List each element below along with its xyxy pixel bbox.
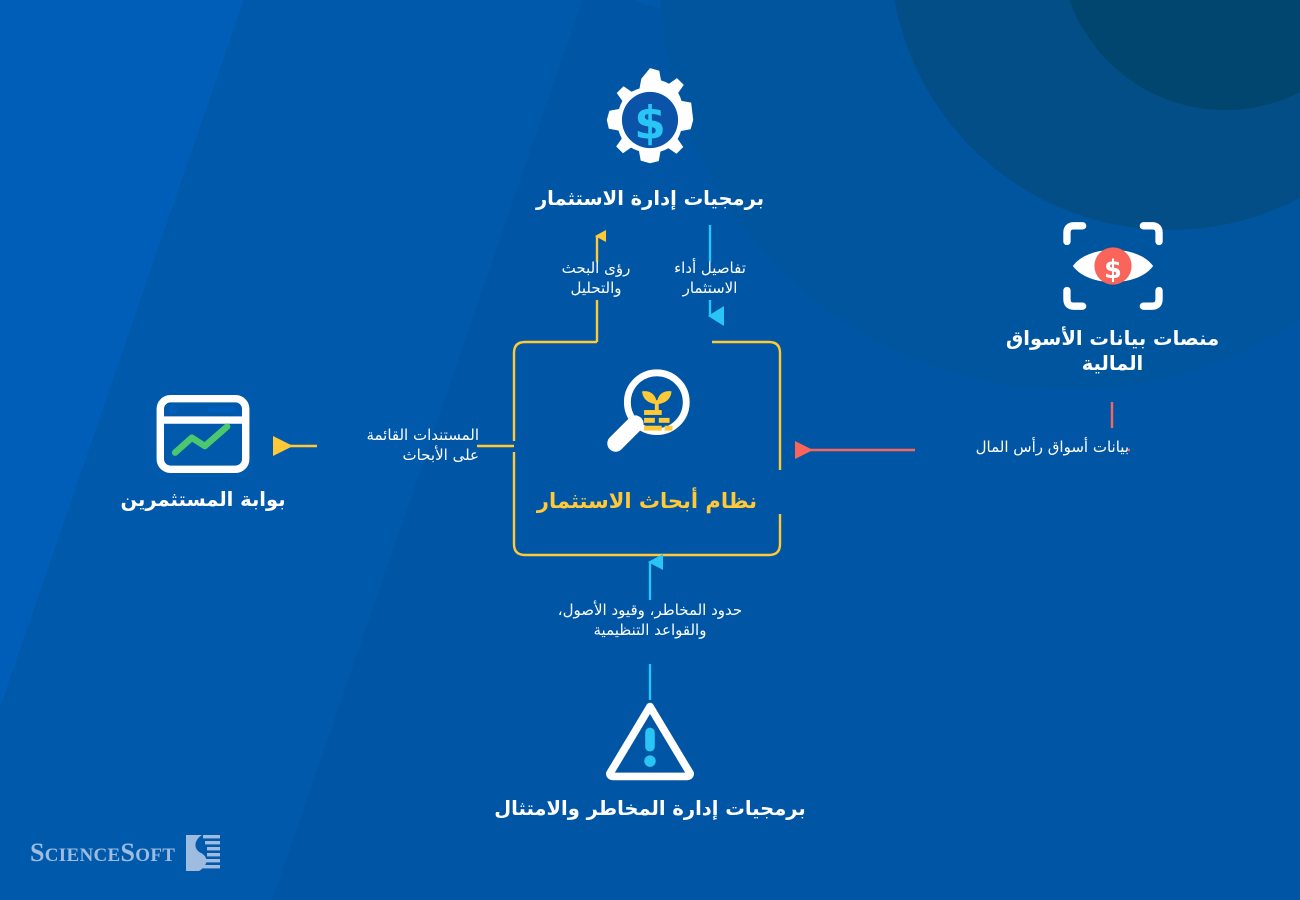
node-label: برمجيات إدارة الاستثمار	[490, 186, 810, 211]
center-node-investment-research-system[interactable]: نظام أبحاث الاستثمار	[513, 341, 781, 556]
browser-chart-icon	[78, 395, 328, 473]
gear-dollar-icon: $	[490, 66, 810, 174]
logo-part: CIENCE	[45, 845, 121, 866]
logo-part: T	[162, 845, 175, 866]
node-investor-portal[interactable]: بوابة المستثمرين	[78, 395, 328, 512]
logo-part: S	[120, 838, 135, 867]
logo-part: OF	[135, 845, 162, 866]
background-circle-middle	[890, 0, 1300, 230]
node-financial-market-data-platforms[interactable]: $ منصات بيانات الأسواق المالية	[965, 218, 1260, 377]
svg-text:$: $	[1104, 255, 1122, 285]
edge-label-research-insights: رؤى البحث والتحليل	[541, 258, 651, 299]
edge-label-risk-limits-rules: حدود المخاطر، وقيود الأصول، والقواعد الت…	[480, 600, 820, 641]
node-investment-management-software[interactable]: $ برمجيات إدارة الاستثمار	[490, 66, 810, 211]
eye-scan-dollar-icon: $	[965, 218, 1260, 314]
edge-label-investment-performance-details: تفاصيل أداء الاستثمار	[655, 258, 765, 299]
node-label: منصات بيانات الأسواق المالية	[965, 326, 1260, 377]
magnifier-sprout-coins-icon	[596, 361, 698, 467]
sciencesoft-logo[interactable]: SCIENCESOFT	[30, 833, 222, 873]
sciencesoft-mark	[184, 833, 222, 873]
sciencesoft-wordmark: SCIENCESOFT	[30, 838, 175, 868]
warning-triangle-icon	[460, 700, 840, 782]
svg-text:$: $	[634, 96, 666, 149]
node-label: برمجيات إدارة المخاطر والامتثال	[460, 796, 840, 821]
diagram-canvas: $ برمجيات إدارة الاستثمار $ منصات بيانات…	[0, 0, 1300, 900]
edge-label-capital-markets-data: بيانات أسواق رأس المال	[915, 437, 1129, 457]
node-risk-compliance-software[interactable]: برمجيات إدارة المخاطر والامتثال	[460, 700, 840, 821]
node-label: بوابة المستثمرين	[78, 487, 328, 512]
background-circle-inner	[1060, 0, 1300, 110]
logo-part: S	[30, 838, 45, 867]
center-node-label: نظام أبحاث الاستثمار	[513, 489, 781, 513]
edge-label-research-based-documents: المستندات القائمة على الأبحاث	[319, 425, 479, 466]
